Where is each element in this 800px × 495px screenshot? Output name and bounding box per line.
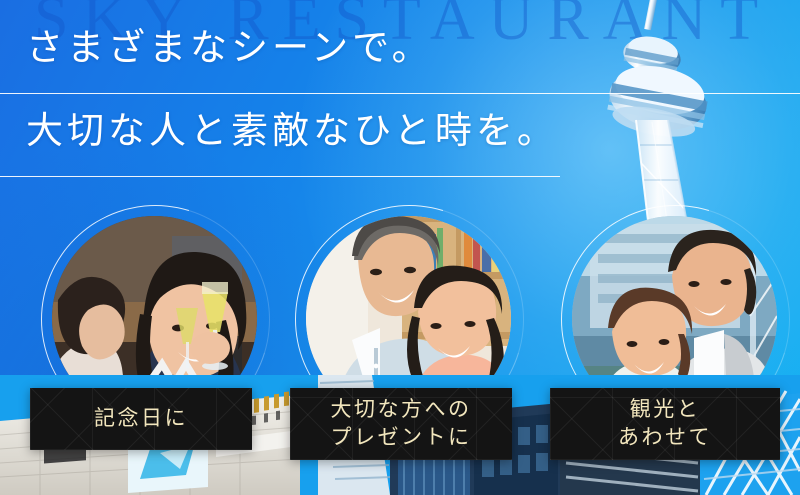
sky-restaurant-banner: SKY RESTAURANT bbox=[0, 0, 800, 495]
headline-rule-bottom bbox=[0, 176, 560, 177]
caption-line: プレゼントに bbox=[331, 424, 472, 452]
caption-line: 観光と bbox=[618, 396, 712, 424]
headline-block: さまざまなシーンで。 大切な人と素敵なひと時を。 bbox=[0, 14, 800, 177]
caption-plate-anniversary[interactable]: 記念日に bbox=[30, 388, 252, 450]
headline-line-1: さまざまなシーンで。 bbox=[0, 14, 800, 93]
caption-text-sightseeing: 観光と あわせて bbox=[618, 396, 712, 451]
caption-line: 記念日に bbox=[94, 405, 188, 433]
headline-line-2: 大切な人と素敵なひと時を。 bbox=[0, 94, 800, 176]
caption-text-anniversary: 記念日に bbox=[94, 405, 188, 433]
caption-text-gift: 大切な方への プレゼントに bbox=[331, 396, 472, 451]
caption-line: あわせて bbox=[618, 424, 712, 452]
caption-line: 大切な方への bbox=[331, 396, 472, 424]
caption-plate-sightseeing[interactable]: 観光と あわせて bbox=[550, 388, 780, 460]
caption-plate-gift[interactable]: 大切な方への プレゼントに bbox=[290, 388, 512, 460]
